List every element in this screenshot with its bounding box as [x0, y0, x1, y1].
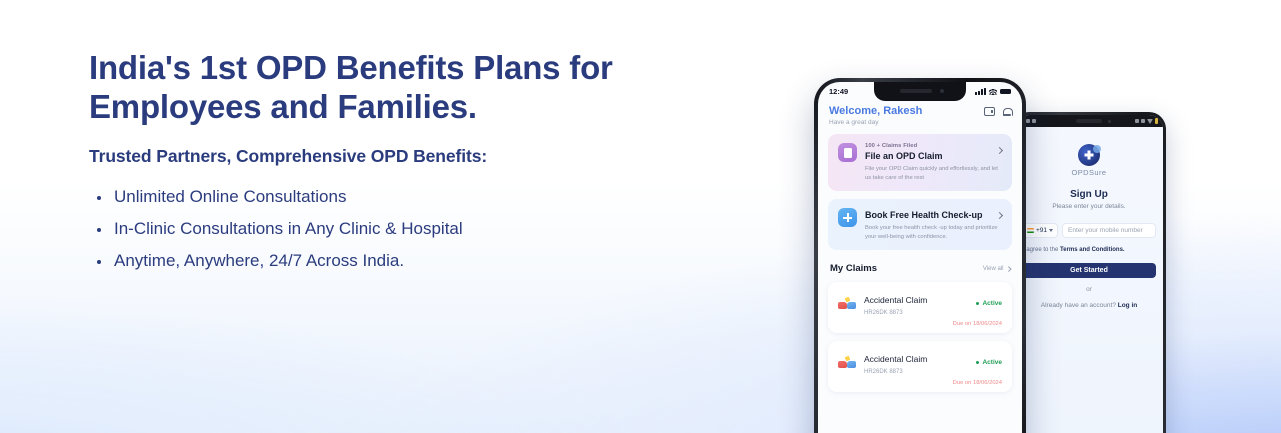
list-item: In-Clinic Consultations in Any Clinic & …: [89, 213, 729, 245]
status-label: Active: [982, 300, 1002, 307]
book-checkup-card[interactable]: Book Free Health Check-up Book your free…: [828, 199, 1012, 250]
claim-due-date: Due on 18/06/2024: [838, 380, 1002, 386]
welcome-prefix: Welcome,: [829, 105, 880, 117]
phone-home-device: 12:49 Welcome, Rakesh Have a great day: [814, 78, 1026, 433]
terms-agreement: I agree to the Terms and Conditions.: [1023, 247, 1155, 253]
claims-filed-count: 100 + Claims Filed: [865, 143, 1002, 149]
claim-name: Accidental Claim: [864, 295, 927, 305]
list-item: Unlimited Online Consultations: [89, 181, 729, 213]
mobile-placeholder: Enter your mobile number: [1068, 227, 1143, 234]
country-code-value: +91: [1036, 227, 1047, 234]
get-started-button[interactable]: Get Started: [1022, 263, 1156, 278]
status-indicators: [975, 88, 1011, 96]
speaker-slot-icon: [1076, 119, 1102, 123]
ios-status-bar: 12:49: [818, 82, 1022, 101]
list-item: Anytime, Anywhere, 24/7 Across India.: [89, 245, 729, 277]
claim-reference: HR26DK 8873: [864, 310, 927, 316]
page-title: India's 1st OPD Benefits Plans for Emplo…: [89, 48, 729, 126]
signal-icon: [1147, 119, 1153, 124]
file-claim-card[interactable]: 100 + Claims Filed File an OPD Claim Fil…: [828, 134, 1012, 191]
document-icon: [838, 143, 857, 162]
wallet-icon[interactable]: [984, 107, 995, 116]
phone-signup-screen: OPDSure Sign Up Please enter your detail…: [1015, 115, 1163, 433]
wifi-icon: [989, 89, 997, 95]
login-prompt: Already have an account? Log in: [1015, 302, 1163, 309]
hero-copy: India's 1st OPD Benefits Plans for Emplo…: [89, 48, 729, 277]
bell-icon[interactable]: [1002, 107, 1011, 117]
status-badge: Active: [976, 359, 1002, 366]
welcome-username: Rakesh: [883, 105, 922, 117]
battery-icon: [1000, 89, 1011, 95]
alarm-icon: [1141, 119, 1145, 123]
terms-link[interactable]: Terms and Conditions.: [1060, 247, 1125, 253]
chevron-down-icon: [1049, 229, 1053, 232]
login-link[interactable]: Log in: [1118, 302, 1138, 309]
india-flag-icon: [1027, 228, 1034, 233]
terms-prefix: I agree to the: [1023, 247, 1060, 253]
mobile-number-input[interactable]: Enter your mobile number: [1062, 223, 1156, 238]
front-camera-icon: [1108, 120, 1111, 123]
table-row[interactable]: Accidental Claim HR26DK 8873 Active Due …: [828, 282, 1012, 333]
status-indicators: [1135, 118, 1158, 124]
claim-due-date: Due on 18/06/2024: [838, 321, 1002, 327]
opdsure-logo-icon: [1078, 144, 1100, 166]
status-time: 12:49: [829, 87, 848, 96]
cellular-signal-icon: [975, 88, 986, 96]
mobile-entry-row: +91 Enter your mobile number: [1022, 223, 1156, 238]
card-description: Book your free health check -up today an…: [865, 224, 1002, 241]
phone-home-screen: 12:49 Welcome, Rakesh Have a great day: [818, 82, 1022, 433]
greeting-text: Have a great day: [829, 119, 922, 126]
claim-reference: HR26DK 8873: [864, 369, 927, 375]
country-code-select[interactable]: +91: [1022, 223, 1058, 238]
brand-lockup: OPDSure: [1015, 144, 1163, 177]
status-dot-icon: [976, 302, 979, 305]
table-row[interactable]: Accidental Claim HR26DK 8873 Active Due …: [828, 341, 1012, 392]
view-all-link[interactable]: View all: [983, 266, 1010, 272]
welcome-block: Welcome, Rakesh Have a great day: [829, 105, 922, 126]
message-icon: [1026, 119, 1030, 123]
home-header: Welcome, Rakesh Have a great day: [818, 101, 1022, 126]
card-title: Book Free Health Check-up: [865, 210, 1002, 220]
accident-icon: [838, 296, 856, 310]
status-dot-icon: [976, 361, 979, 364]
or-divider-label: or: [1015, 286, 1163, 293]
header-actions: [984, 105, 1011, 117]
login-prefix: Already have an account?: [1041, 302, 1118, 309]
my-claims-header: My Claims View all: [830, 263, 1010, 274]
status-label: Active: [982, 359, 1002, 366]
plus-icon: [838, 208, 857, 227]
card-description: File your OPD Claim quickly and effortle…: [865, 165, 1002, 182]
benefit-list: Unlimited Online Consultations In-Clinic…: [89, 181, 729, 277]
status-badge: Active: [976, 300, 1002, 307]
battery-icon: [1155, 118, 1158, 124]
accident-icon: [838, 355, 856, 369]
welcome-title: Welcome, Rakesh: [829, 105, 922, 117]
claim-name: Accidental Claim: [864, 354, 927, 364]
card-title: File an OPD Claim: [865, 151, 1002, 161]
brand-name: OPDSure: [1015, 168, 1163, 177]
signup-subtitle: Please enter your details.: [1015, 203, 1163, 210]
app-icon: [1032, 119, 1036, 123]
hero-subhead: Trusted Partners, Comprehensive OPD Bene…: [89, 146, 729, 167]
phone-mockups: OPDSure Sign Up Please enter your detail…: [806, 78, 1186, 433]
bluetooth-icon: [1135, 119, 1139, 123]
chevron-right-icon: [1006, 266, 1011, 271]
section-title: My Claims: [830, 263, 877, 274]
phone-signup-device: OPDSure Sign Up Please enter your detail…: [1012, 112, 1166, 433]
view-all-label: View all: [983, 266, 1004, 272]
signup-title: Sign Up: [1015, 189, 1163, 200]
android-status-bar: [1015, 115, 1163, 127]
